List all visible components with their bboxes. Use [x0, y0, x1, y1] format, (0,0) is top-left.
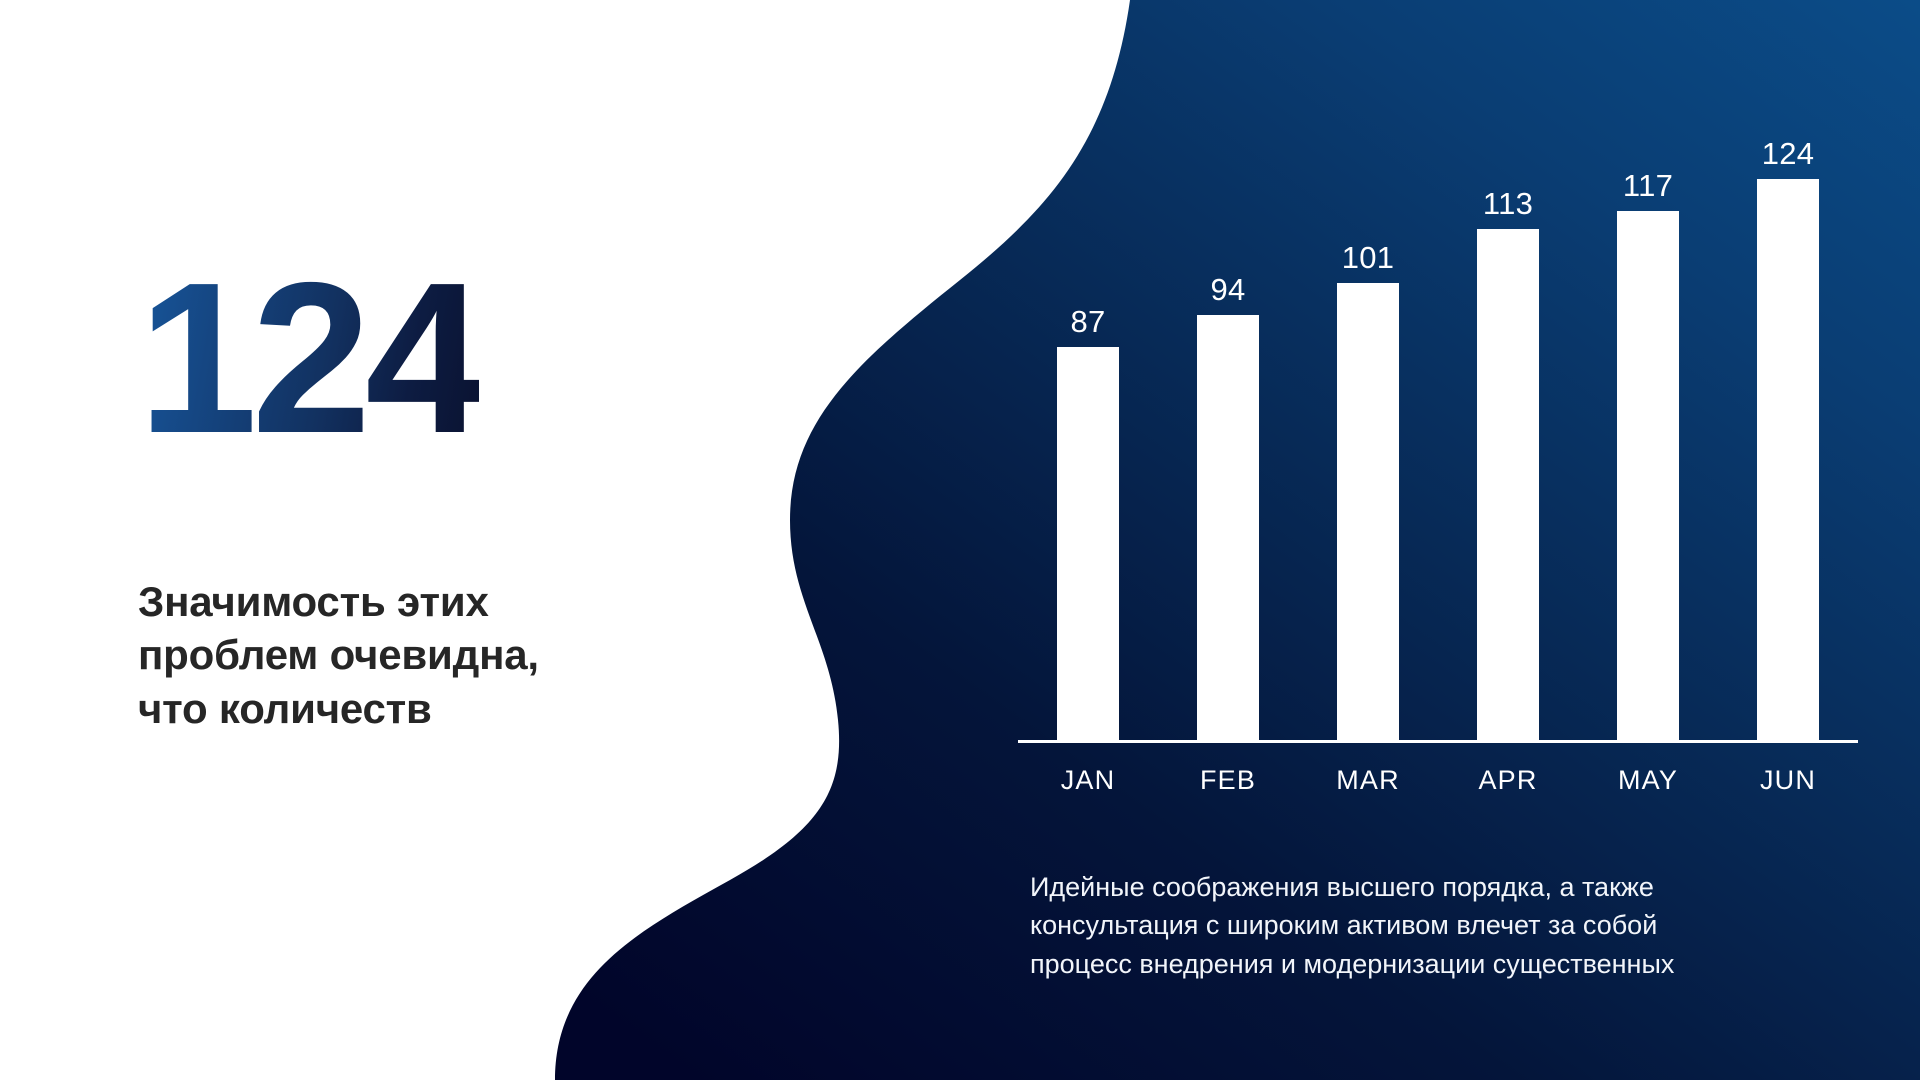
- bar-slot-0: 87: [1018, 100, 1158, 743]
- bar-slot-2: 101: [1298, 100, 1438, 743]
- bar-chart: 87 94 101 113 117 124: [1018, 100, 1858, 800]
- bar-value-5: 124: [1762, 136, 1815, 172]
- bar-slot-5: 124: [1718, 100, 1858, 743]
- bar-4[interactable]: [1617, 211, 1679, 743]
- x-label-feb: FEB: [1158, 765, 1298, 796]
- caption-line-2: консультация с широким активом влечет за…: [1030, 906, 1810, 944]
- headline-line-2: проблем очевидна,: [138, 628, 608, 681]
- bar-slot-4: 117: [1578, 100, 1718, 743]
- x-label-apr: APR: [1438, 765, 1578, 796]
- x-label-may: MAY: [1578, 765, 1718, 796]
- bar-value-3: 113: [1483, 186, 1533, 222]
- bar-0[interactable]: [1057, 347, 1119, 743]
- bar-3[interactable]: [1477, 229, 1539, 743]
- bar-slot-3: 113: [1438, 100, 1578, 743]
- bar-1[interactable]: [1197, 315, 1259, 743]
- bar-value-2: 101: [1342, 240, 1395, 276]
- chart-plot-area: 87 94 101 113 117 124: [1018, 100, 1858, 743]
- left-content-column: 124 Значимость этих проблем очевидна, чт…: [0, 0, 620, 1080]
- headline-line-1: Значимость этих: [138, 575, 608, 628]
- bar-slot-1: 94: [1158, 100, 1298, 743]
- x-label-mar: MAR: [1298, 765, 1438, 796]
- slide-root: 124 Значимость этих проблем очевидна, чт…: [0, 0, 1920, 1080]
- x-label-jun: JUN: [1718, 765, 1858, 796]
- page-title: Значимость этих проблем очевидна, что ко…: [138, 575, 608, 735]
- x-label-jan: JAN: [1018, 765, 1158, 796]
- bar-value-1: 94: [1210, 272, 1245, 308]
- big-stat-number: 124: [138, 250, 479, 465]
- bar-2[interactable]: [1337, 283, 1399, 743]
- chart-caption: Идейные соображения высшего порядка, а т…: [1030, 868, 1810, 983]
- bar-value-4: 117: [1623, 168, 1673, 204]
- headline-line-3: что количеств: [138, 682, 608, 735]
- bar-value-0: 87: [1070, 304, 1105, 340]
- caption-line-1: Идейные соображения высшего порядка, а т…: [1030, 868, 1810, 906]
- caption-line-3: процесс внедрения и модернизации существ…: [1030, 945, 1810, 983]
- chart-x-axis-labels: JAN FEB MAR APR MAY JUN: [1018, 743, 1858, 799]
- bar-5[interactable]: [1757, 179, 1819, 743]
